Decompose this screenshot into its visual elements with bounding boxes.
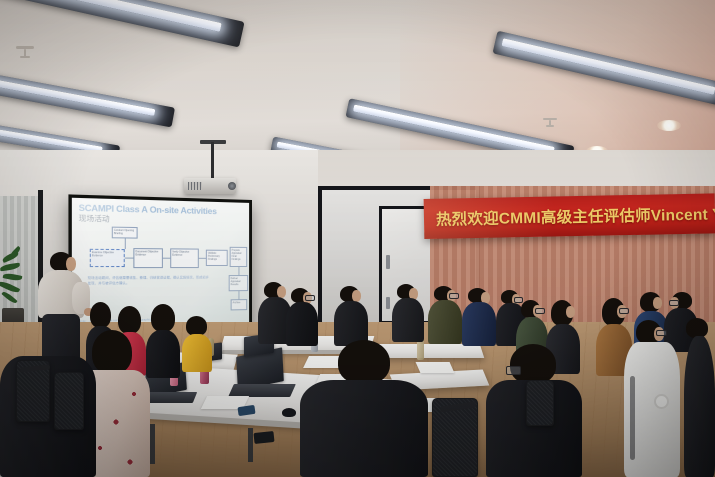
eyeglasses bbox=[656, 330, 667, 336]
attendee-torso bbox=[300, 380, 428, 477]
attendee-hair bbox=[92, 330, 132, 374]
eyeglasses bbox=[449, 293, 459, 299]
office-chair[interactable] bbox=[54, 372, 84, 430]
table-leg bbox=[248, 428, 253, 462]
sprinkler-head bbox=[543, 118, 557, 130]
attendee bbox=[182, 316, 212, 372]
recessed-downlight bbox=[657, 120, 681, 131]
banner-text: 热烈欢迎CMMI高级主任评估师Vincent Yip先 bbox=[424, 202, 715, 230]
attendee-face bbox=[653, 297, 662, 309]
jacket-seam bbox=[630, 376, 635, 460]
attendee bbox=[286, 288, 318, 346]
attendee-hair bbox=[510, 344, 556, 384]
attendee bbox=[462, 288, 496, 346]
door-handle[interactable] bbox=[386, 255, 390, 269]
attendee bbox=[428, 286, 462, 344]
flow-box: Archive bbox=[231, 299, 248, 310]
flow-arrow bbox=[238, 291, 239, 299]
attendee bbox=[146, 304, 180, 378]
eyeglasses bbox=[305, 295, 315, 301]
attendee bbox=[624, 320, 680, 477]
flow-box: Conduct Opening Briefing bbox=[112, 227, 138, 239]
flow-box: Prepare Appraisal Final Findings bbox=[230, 247, 248, 267]
partition-mullion bbox=[318, 186, 322, 326]
chair-mesh bbox=[527, 381, 553, 425]
welcome-banner: 热烈欢迎CMMI高级主任评估师Vincent Yip先 bbox=[424, 193, 715, 239]
slide-subtitle: 现场活动 bbox=[79, 213, 110, 224]
attendee-face bbox=[566, 306, 575, 318]
eyeglasses bbox=[669, 300, 679, 306]
meeting-room-photo: 热烈欢迎CMMI高级主任评估师Vincent Yip先 SCAMPI Class… bbox=[0, 0, 715, 477]
attendee bbox=[334, 286, 368, 346]
eyeglasses bbox=[506, 366, 521, 375]
attendee-torso bbox=[428, 300, 462, 344]
door-handle[interactable] bbox=[386, 297, 390, 309]
flow-box: Validate Preliminary Findings bbox=[206, 250, 228, 266]
attendee bbox=[300, 340, 428, 477]
sprinkler-head bbox=[16, 46, 34, 62]
office-chair[interactable] bbox=[526, 380, 554, 426]
attendee-hair bbox=[338, 340, 390, 384]
jacket-logo bbox=[654, 394, 669, 409]
flow-box: Deliver Appraisal Results bbox=[229, 275, 248, 291]
projector-vent bbox=[188, 182, 202, 190]
attendee-torso bbox=[684, 336, 715, 477]
flow-arrow bbox=[125, 258, 134, 259]
flow-arrow bbox=[199, 258, 206, 259]
projector-pole bbox=[211, 142, 214, 180]
flow-arrow bbox=[163, 258, 170, 259]
attendee bbox=[684, 318, 715, 477]
flow-arrow bbox=[238, 267, 239, 275]
chair-mesh bbox=[55, 373, 83, 429]
smartphone[interactable] bbox=[253, 431, 274, 444]
presenter-face bbox=[66, 257, 76, 271]
yellow-top bbox=[182, 334, 212, 372]
attendee-hair bbox=[186, 316, 207, 336]
attendee-hair bbox=[151, 304, 175, 332]
attendee bbox=[392, 284, 424, 342]
eyeglasses bbox=[619, 308, 629, 314]
flow-box: Verify Objective Evidence bbox=[170, 248, 199, 268]
projector-lens bbox=[228, 182, 236, 190]
flow-arrow bbox=[125, 238, 126, 249]
attendee-torso bbox=[392, 298, 424, 342]
attendee-hair bbox=[686, 318, 708, 338]
attendee-torso bbox=[462, 302, 496, 346]
attendee-torso bbox=[146, 330, 180, 378]
attendee-hair bbox=[90, 302, 111, 328]
flow-box: Document Objective Evidence bbox=[133, 248, 163, 268]
computer-mouse[interactable] bbox=[282, 408, 296, 417]
flow-box: Examine Objective Evidence bbox=[90, 249, 125, 267]
slide-note: 现场活动期间，评估组需要收集、整理、归纳客观证据，确认实施情况，形成初步发现，并… bbox=[88, 275, 212, 286]
eyeglasses bbox=[535, 308, 545, 314]
table-leg bbox=[150, 424, 155, 464]
